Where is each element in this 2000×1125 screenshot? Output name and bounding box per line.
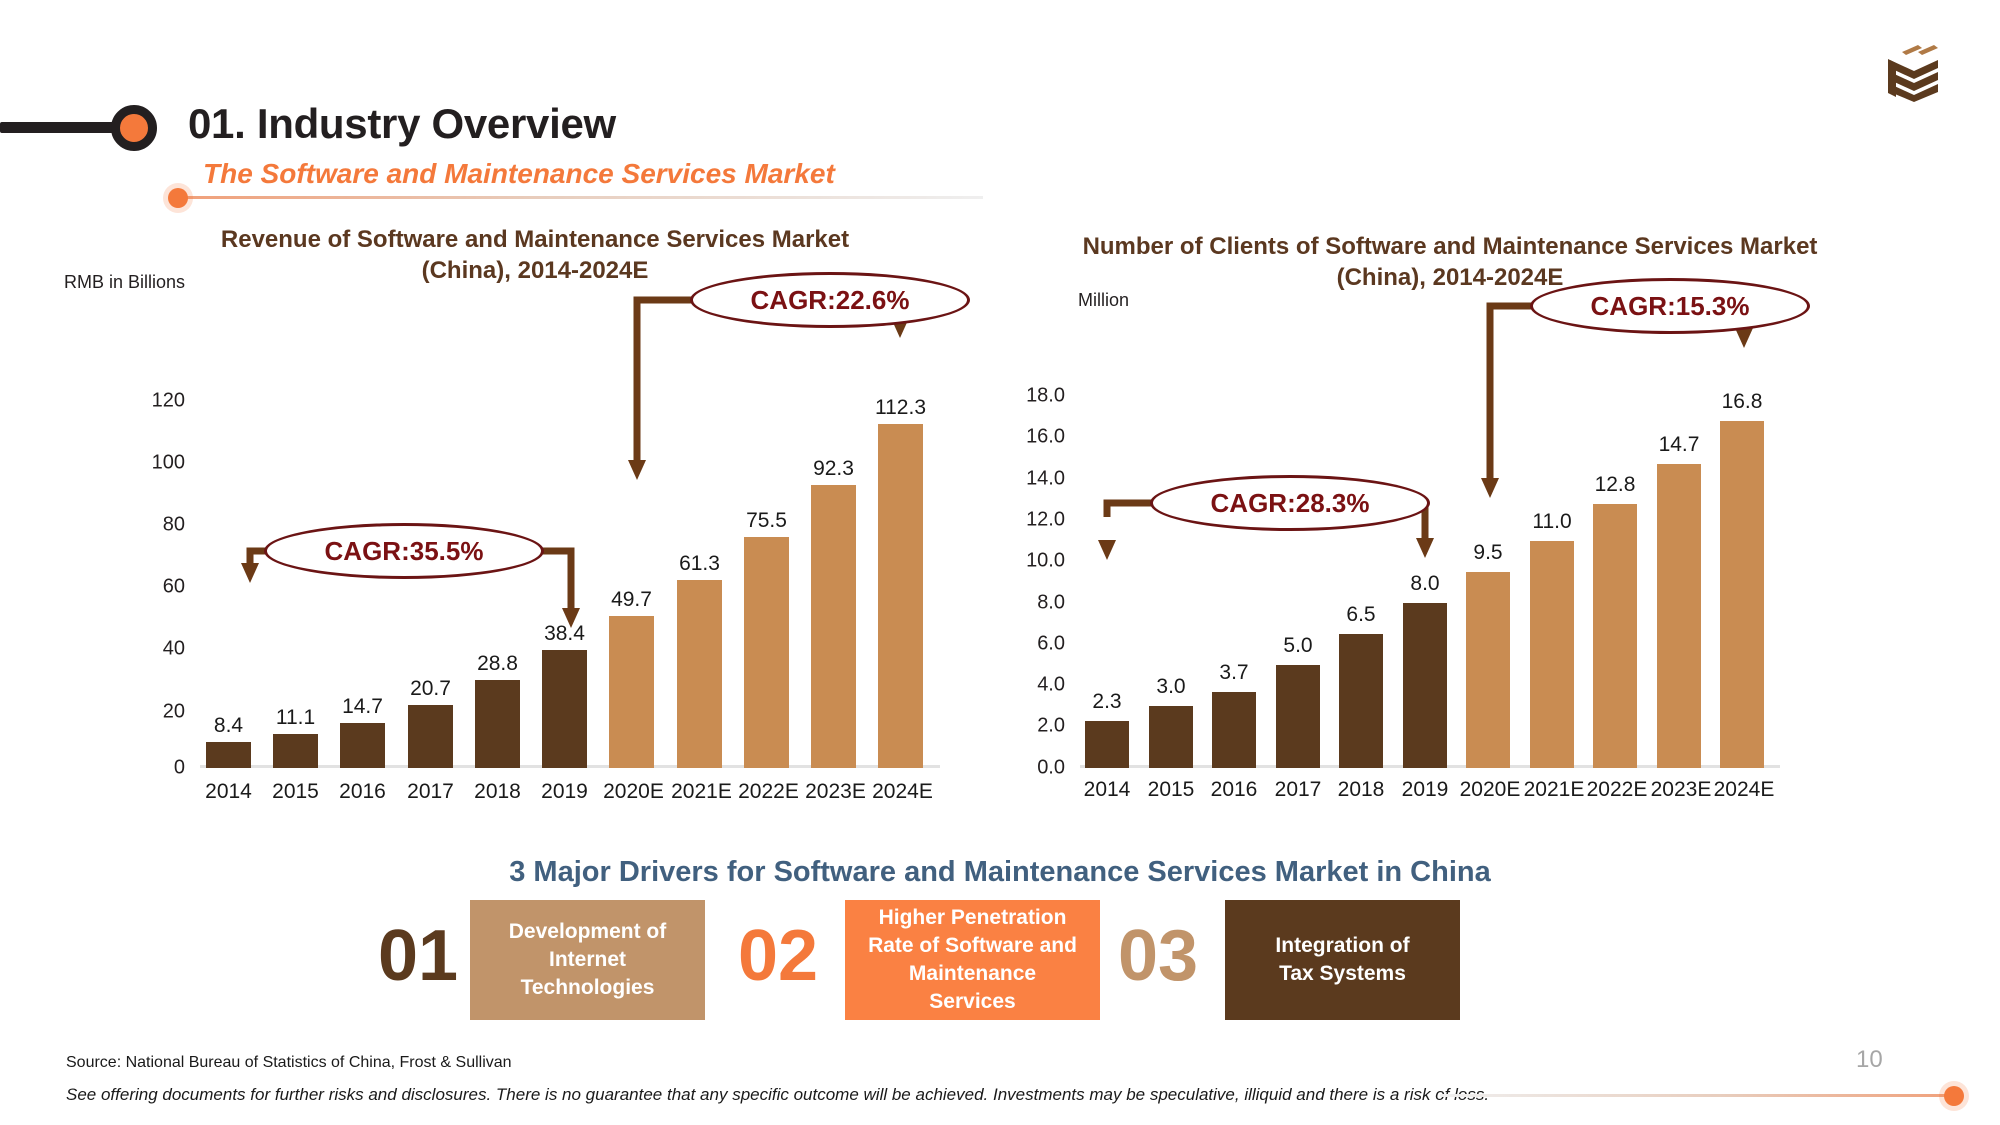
driver-number-02: 02 — [738, 920, 818, 992]
drivers-heading: 3 Major Drivers for Software and Mainten… — [0, 856, 2000, 889]
driver-box-03[interactable]: Integration ofTax Systems — [1225, 900, 1460, 1020]
footer-dot-icon — [1944, 1086, 1964, 1106]
driver-number-03: 03 — [1118, 920, 1198, 992]
clients-cagr-callout-2: CAGR:15.3% — [1530, 278, 1810, 334]
slide: 01. Industry Overview The Software and M… — [0, 0, 2000, 1125]
driver-label-02: Higher PenetrationRate of Software andMa… — [868, 904, 1077, 1016]
footer-divider — [1440, 1094, 1956, 1097]
page-number: 10 — [1856, 1046, 1883, 1074]
driver-number-01: 01 — [378, 920, 458, 992]
driver-label-03: Integration ofTax Systems — [1275, 932, 1409, 988]
disclaimer-note: See offering documents for further risks… — [66, 1085, 1489, 1105]
driver-label-01: Development ofInternetTechnologies — [509, 918, 667, 1002]
source-note: Source: National Bureau of Statistics of… — [66, 1054, 512, 1072]
driver-box-01[interactable]: Development ofInternetTechnologies — [470, 900, 705, 1020]
driver-box-02[interactable]: Higher PenetrationRate of Software andMa… — [845, 900, 1100, 1020]
